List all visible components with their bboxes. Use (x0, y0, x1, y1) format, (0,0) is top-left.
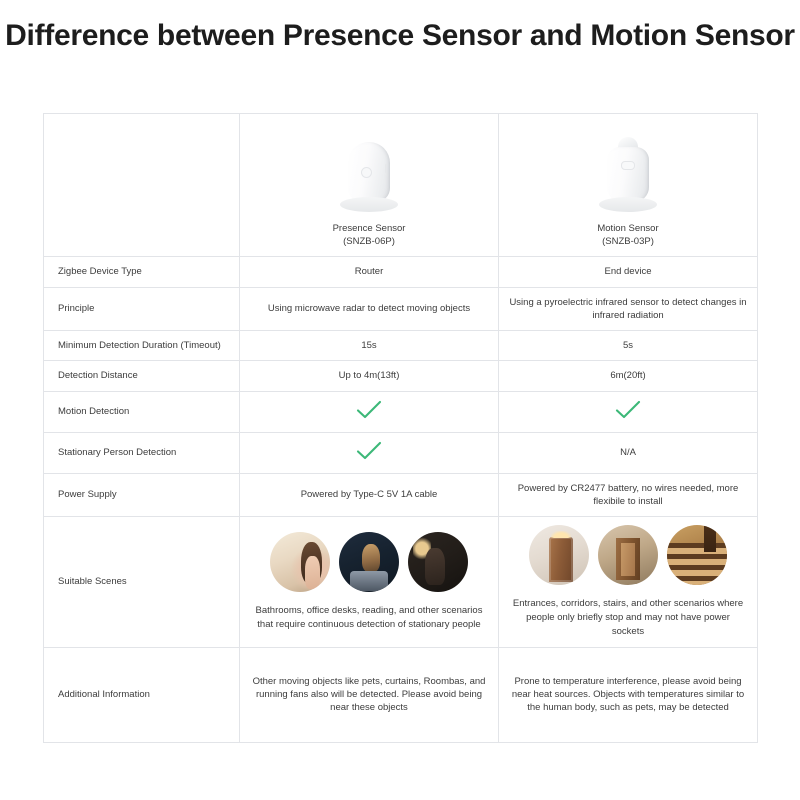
page-title: Difference between Presence Sensor and M… (0, 18, 800, 54)
office-desk-scene-image (339, 532, 399, 592)
table-row: Detection Distance Up to 4m(13ft) 6m(20f… (44, 361, 758, 392)
presence-sensor-device-icon (321, 134, 417, 220)
cell-motion-zigbee-device-type: End device (499, 257, 758, 288)
table-row: Stationary Person Detection N/A (44, 432, 758, 473)
row-label-minimum-detection-duration: Minimum Detection Duration (Timeout) (44, 330, 240, 361)
comparison-infographic: Difference between Presence Sensor and M… (0, 0, 800, 800)
check-icon (356, 441, 382, 461)
cell-presence-additional-information: Other moving objects like pets, curtains… (240, 647, 499, 742)
row-label-zigbee-device-type: Zigbee Device Type (44, 257, 240, 288)
bathroom-scene-image (270, 532, 330, 592)
entrance-door-scene-image (529, 525, 589, 585)
table-row: Principle Using microwave radar to detec… (44, 287, 758, 330)
corridor-scene-image (598, 525, 658, 585)
row-label-additional-information: Additional Information (44, 647, 240, 742)
cell-presence-motion-detection (240, 391, 499, 432)
table-row-additional-information: Additional Information Other moving obje… (44, 647, 758, 742)
table-row: Zigbee Device Type Router End device (44, 257, 758, 288)
row-label-power-supply: Power Supply (44, 473, 240, 516)
row-label-motion-detection: Motion Detection (44, 391, 240, 432)
cell-presence-power-supply: Powered by Type-C 5V 1A cable (240, 473, 499, 516)
device-model-motion: (SNZB-03P) (597, 235, 658, 248)
row-label-detection-distance: Detection Distance (44, 361, 240, 392)
stairs-scene-image (667, 525, 727, 585)
cell-motion-motion-detection (499, 391, 758, 432)
device-model-presence: (SNZB-06P) (333, 235, 406, 248)
row-label-principle: Principle (44, 287, 240, 330)
cell-motion-stationary-person-detection: N/A (499, 432, 758, 473)
cell-motion-power-supply: Powered by CR2477 battery, no wires need… (499, 473, 758, 516)
table-row: Power Supply Powered by Type-C 5V 1A cab… (44, 473, 758, 516)
cell-presence-minimum-detection-duration: 15s (240, 330, 499, 361)
table-row: Motion Detection (44, 391, 758, 432)
cell-presence-stationary-person-detection (240, 432, 499, 473)
row-label-stationary-person-detection: Stationary Person Detection (44, 432, 240, 473)
header-cell-presence-sensor: Presence Sensor (SNZB-06P) (240, 114, 499, 257)
cell-presence-suitable-scenes: Bathrooms, office desks, reading, and ot… (240, 516, 499, 647)
comparison-table: Presence Sensor (SNZB-06P) (43, 113, 758, 743)
check-icon (356, 400, 382, 420)
check-icon (615, 400, 641, 420)
cell-motion-minimum-detection-duration: 5s (499, 330, 758, 361)
cell-motion-suitable-scenes: Entrances, corridors, stairs, and other … (499, 516, 758, 647)
cell-motion-additional-information: Prone to temperature interference, pleas… (499, 647, 758, 742)
cell-motion-principle: Using a pyroelectric infrared sensor to … (499, 287, 758, 330)
scene-caption-presence: Bathrooms, office desks, reading, and ot… (250, 604, 488, 632)
cell-presence-zigbee-device-type: Router (240, 257, 499, 288)
cell-motion-detection-distance: 6m(20ft) (499, 361, 758, 392)
scene-caption-motion: Entrances, corridors, stairs, and other … (509, 597, 747, 639)
header-empty-cell (44, 114, 240, 257)
table-header-row: Presence Sensor (SNZB-06P) (44, 114, 758, 257)
reading-scene-image (408, 532, 468, 592)
device-name-motion: Motion Sensor (597, 222, 658, 235)
table-row: Minimum Detection Duration (Timeout) 15s… (44, 330, 758, 361)
header-cell-motion-sensor: Motion Sensor (SNZB-03P) (499, 114, 758, 257)
cell-presence-detection-distance: Up to 4m(13ft) (240, 361, 499, 392)
cell-presence-principle: Using microwave radar to detect moving o… (240, 287, 499, 330)
device-name-presence: Presence Sensor (333, 222, 406, 235)
row-label-suitable-scenes: Suitable Scenes (44, 516, 240, 647)
table-row-suitable-scenes: Suitable Scenes Bathrooms, office desks,… (44, 516, 758, 647)
motion-sensor-device-icon (580, 134, 676, 220)
